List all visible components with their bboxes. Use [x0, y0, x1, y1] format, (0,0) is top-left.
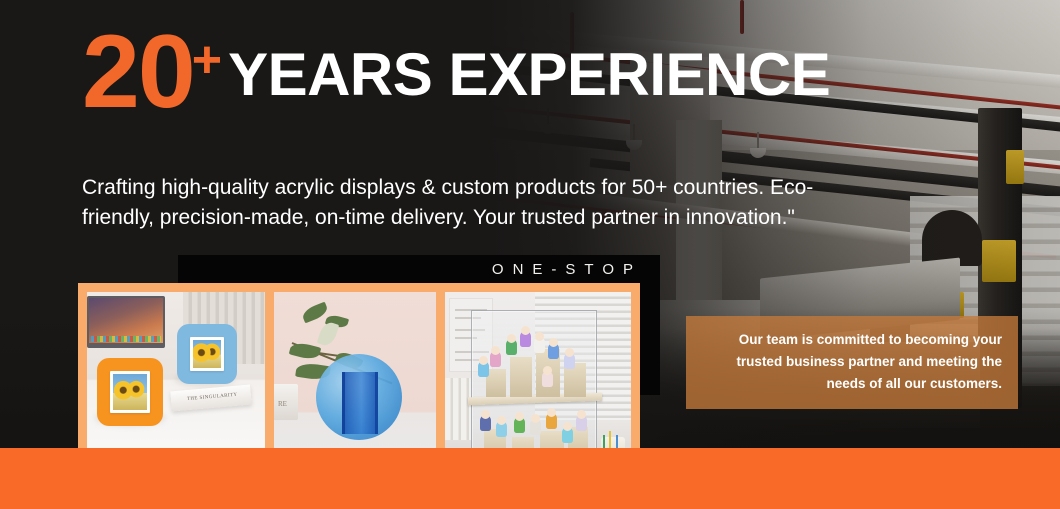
book-title: THE SINGULARITY [187, 393, 238, 402]
sunflower-print [193, 340, 221, 368]
promo-banner: 20 + YEARS EXPERIENCE Crafting high-qual… [0, 0, 1060, 509]
riser-block [510, 357, 532, 397]
blue-acrylic-frame [183, 330, 231, 378]
figurine [530, 419, 541, 435]
small-pot: RE [274, 384, 298, 420]
framed-photo [190, 337, 224, 371]
team-commitment-caption: Our team is committed to becoming your t… [686, 316, 1018, 409]
bottom-accent-bar [0, 448, 1060, 509]
intro-paragraph: Crafting high-quality acrylic displays &… [82, 173, 882, 233]
years-number: 20 [82, 28, 194, 117]
framed-photo [110, 371, 150, 413]
sunflower-print [113, 374, 147, 410]
figurine [490, 351, 501, 367]
product-photo-acrylic-frames[interactable]: THE SINGULARITY [87, 292, 265, 473]
acrylic-display-case [471, 310, 597, 466]
page-title: 20 + YEARS EXPERIENCE [82, 28, 830, 117]
books [445, 378, 471, 440]
figurine [496, 421, 507, 437]
pot-label: RE [278, 400, 287, 408]
figurine [514, 417, 525, 433]
orange-acrylic-frame [103, 364, 157, 420]
figurine [576, 415, 587, 431]
vase-inner-panel [342, 372, 378, 434]
figurine [506, 339, 517, 355]
laptop [87, 296, 165, 348]
product-photo-acrylic-vase[interactable]: RE [274, 292, 436, 473]
figurine [480, 415, 491, 431]
laptop-dock [91, 336, 161, 342]
years-plus-sign: + [192, 34, 222, 86]
riser-block [486, 369, 506, 397]
one-stop-label: ONE-STOP [492, 261, 642, 278]
figurine [548, 343, 559, 359]
figurine [562, 427, 573, 443]
product-photo-display-case[interactable] [445, 292, 631, 473]
figurine [534, 337, 545, 353]
years-experience-label: YEARS EXPERIENCE [228, 45, 830, 105]
figurine [520, 331, 531, 347]
figurine [478, 361, 489, 377]
figurine [542, 371, 553, 387]
figurine [564, 353, 575, 369]
figurine [546, 413, 557, 429]
